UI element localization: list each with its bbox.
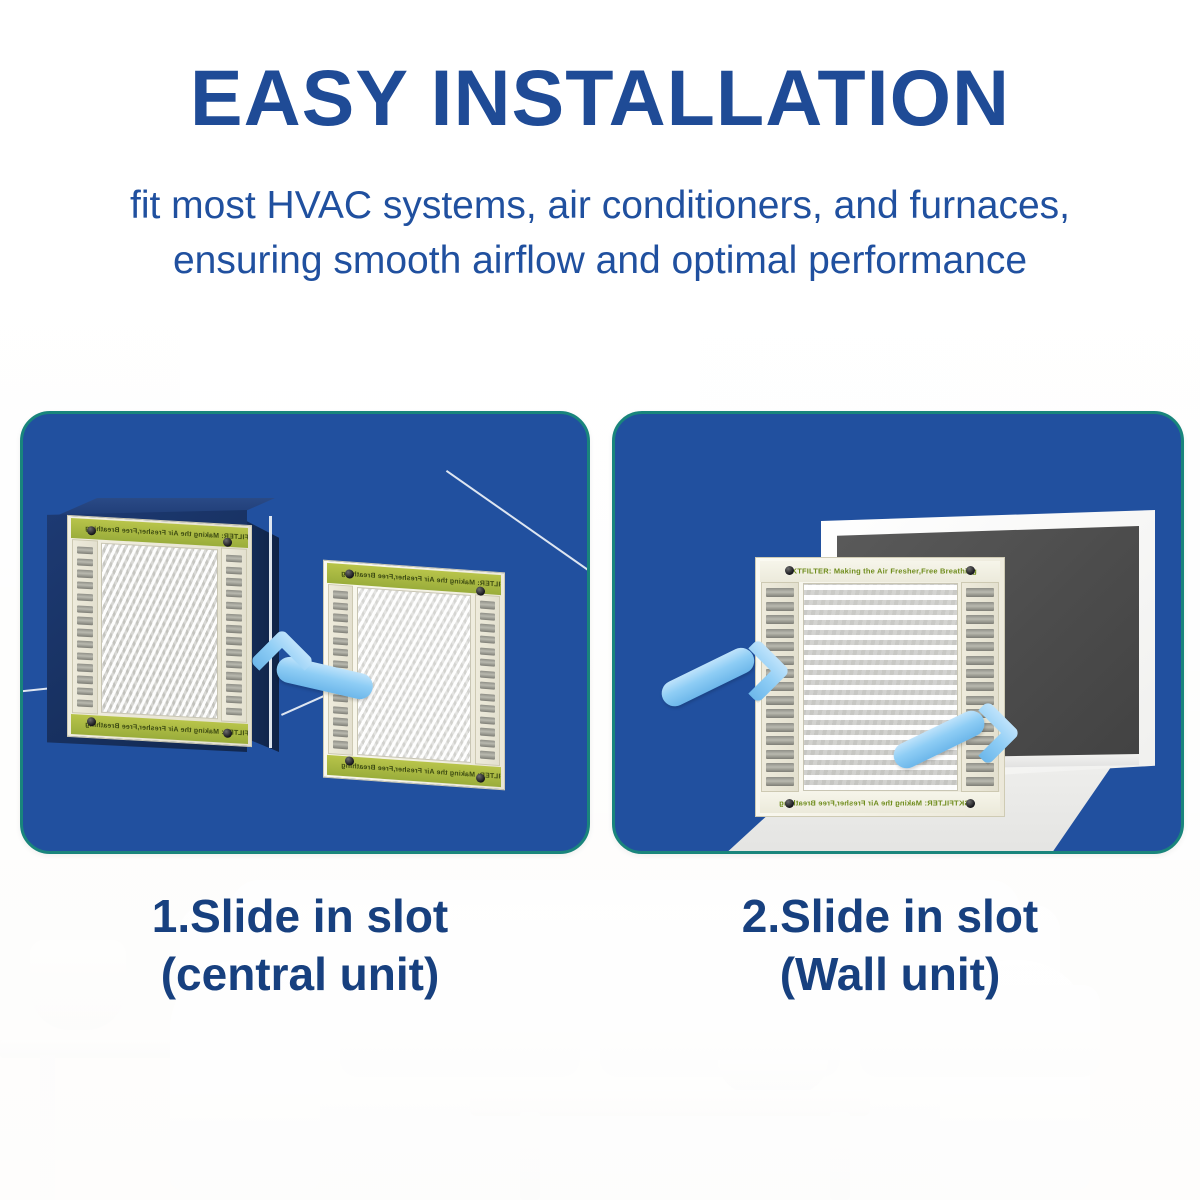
filter-rivet xyxy=(345,756,354,766)
subtitle-line-1: fit most HVAC systems, air conditioners,… xyxy=(60,178,1140,233)
filter-brand-band-bottom: SKTFILTER: Making the Air Fresher,Free B… xyxy=(760,792,1000,813)
arrow-shaft xyxy=(274,654,375,701)
caption-2-line-1: 2.Slide in slot xyxy=(620,888,1160,946)
caption-panel-1: 1.Slide in slot (central unit) xyxy=(30,888,570,1003)
filter-rivet xyxy=(476,586,485,596)
slide-direction-arrow-right-outer xyxy=(663,642,793,732)
page-title: EASY INSTALLATION xyxy=(0,58,1200,137)
filter-rivet xyxy=(87,717,96,727)
page-subtitle: fit most HVAC systems, air conditioners,… xyxy=(60,178,1140,289)
filter-rivet xyxy=(345,569,354,579)
filter-rivet xyxy=(785,566,794,575)
filter-media xyxy=(101,542,218,719)
caption-2-line-2: (Wall unit) xyxy=(620,946,1160,1004)
slide-direction-arrow-right-inner xyxy=(895,704,1025,794)
arrow-shaft xyxy=(889,706,988,772)
filter-rivet xyxy=(785,799,794,808)
caption-panel-2: 2.Slide in slot (Wall unit) xyxy=(620,888,1160,1003)
panel-central-unit[interactable]: SKTFILTER: Making the Air Fresher,Free B… xyxy=(20,411,590,854)
infographic-content: EASY INSTALLATION fit most HVAC systems,… xyxy=(0,0,1200,1200)
filter-brand-text: SKTFILTER: Making the Air Fresher,Free B… xyxy=(786,567,976,576)
filter-brand-text: SKTFILTER: Making the Air Fresher,Free B… xyxy=(779,798,969,807)
panel-wall-unit[interactable]: SKTFILTER: Making the Air Fresher,Free B… xyxy=(612,411,1184,854)
filter-installed: SKTFILTER: Making the Air Fresher,Free B… xyxy=(67,515,252,747)
subtitle-line-2: ensuring smooth airflow and optimal perf… xyxy=(60,233,1140,288)
filter-rail-right xyxy=(475,594,500,766)
caption-1-line-2: (central unit) xyxy=(30,946,570,1004)
filter-rail-left xyxy=(72,539,98,714)
filter-rivet xyxy=(966,799,975,808)
caption-1-line-1: 1.Slide in slot xyxy=(30,888,570,946)
perspective-guide-line xyxy=(446,470,590,575)
arrow-shaft xyxy=(657,643,758,710)
filter-brand-band-top: SKTFILTER: Making the Air Fresher,Free B… xyxy=(760,561,1000,582)
filter-rivet xyxy=(223,729,232,739)
filter-rail-right xyxy=(221,548,247,723)
filter-rivet xyxy=(87,526,96,536)
slide-direction-arrow-left xyxy=(245,624,375,714)
filter-rivet xyxy=(223,538,232,548)
filter-rivet xyxy=(476,773,485,783)
filter-rivet xyxy=(966,566,975,575)
